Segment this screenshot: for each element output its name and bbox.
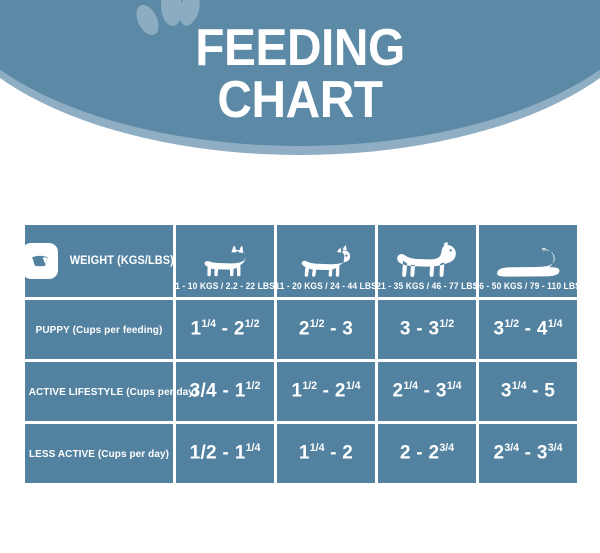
medium-dog-icon (301, 244, 351, 278)
size-header-cell-giant: 36 - 50 KGS / 79 - 110 LBS (479, 225, 577, 297)
amount-less-active-medium: 11/4 - 2 (277, 442, 375, 464)
cell-puppy-giant: 31/2 - 41/4 (479, 300, 577, 359)
page-title-line-1: FEEDING (24, 22, 576, 74)
amount-active-large: 21/4 - 31/4 (378, 380, 476, 402)
row-label-cell-active-lifestyle: ACTIVE LIFESTYLE (Cups per day) (25, 362, 173, 421)
row-label-cell-less-active: LESS ACTIVE (Cups per day) (25, 424, 173, 483)
feeding-chart-table: WEIGHT (KGS/LBS) 1 - 10 KGS / 2.2 - 22 L… (22, 222, 580, 486)
amount-puppy-giant: 31/2 - 41/4 (479, 318, 577, 340)
size-range-medium: 11 - 20 KGS / 24 - 44 LBS (275, 281, 377, 291)
size-header-cell-medium: 11 - 20 KGS / 24 - 44 LBS (277, 225, 375, 297)
weight-header-cell: WEIGHT (KGS/LBS) (25, 225, 173, 297)
size-header-cell-large: 21 - 35 KGS / 46 - 77 LBS (378, 225, 476, 297)
cell-active-large: 21/4 - 31/4 (378, 362, 476, 421)
size-header-cell-small: 1 - 10 KGS / 2.2 - 22 LBS (176, 225, 274, 297)
table-row-puppy: PUPPY (Cups per feeding) 11/4 - 21/2 21/… (25, 300, 577, 359)
cell-active-giant: 31/4 - 5 (479, 362, 577, 421)
page-title: FEEDING CHART (24, 22, 576, 126)
amount-less-active-small: 1/2 - 11/4 (176, 442, 274, 464)
table-header-row: WEIGHT (KGS/LBS) 1 - 10 KGS / 2.2 - 22 L… (25, 225, 577, 297)
amount-less-active-large: 2 - 23/4 (378, 442, 476, 464)
cell-less-active-large: 2 - 23/4 (378, 424, 476, 483)
header-banner: FEEDING CHART (0, 0, 600, 200)
cell-active-medium: 11/2 - 21/4 (277, 362, 375, 421)
size-range-small: 1 - 10 KGS / 2.2 - 22 LBS (175, 281, 275, 291)
table-row-less-active: LESS ACTIVE (Cups per day) 1/2 - 11/4 11… (25, 424, 577, 483)
small-dog-icon (203, 244, 247, 278)
giant-dog-icon (496, 248, 560, 278)
table-row-active-lifestyle: ACTIVE LIFESTYLE (Cups per day) 3/4 - 11… (25, 362, 577, 421)
weight-scale-icon (22, 243, 58, 279)
amount-active-medium: 11/2 - 21/4 (277, 380, 375, 402)
large-dog-icon (397, 242, 457, 278)
amount-active-giant: 31/4 - 5 (479, 380, 577, 402)
row-label-cell-puppy: PUPPY (Cups per feeding) (25, 300, 173, 359)
weight-header-label: WEIGHT (KGS/LBS) (69, 255, 173, 267)
amount-puppy-small: 11/4 - 21/2 (176, 318, 274, 340)
amount-less-active-giant: 23/4 - 33/4 (479, 442, 577, 464)
amount-puppy-large: 3 - 31/2 (378, 318, 476, 340)
row-label-active-lifestyle: ACTIVE LIFESTYLE (Cups per day) (29, 386, 170, 398)
row-label-less-active: LESS ACTIVE (Cups per day) (29, 448, 170, 460)
cell-less-active-small: 1/2 - 11/4 (176, 424, 274, 483)
size-range-large: 21 - 35 KGS / 46 - 77 LBS (376, 281, 478, 291)
cell-puppy-small: 11/4 - 21/2 (176, 300, 274, 359)
size-range-giant: 36 - 50 KGS / 79 - 110 LBS (475, 281, 581, 291)
cell-less-active-medium: 11/4 - 2 (277, 424, 375, 483)
row-label-puppy: PUPPY (Cups per feeding) (29, 324, 170, 336)
cell-puppy-large: 3 - 31/2 (378, 300, 476, 359)
amount-puppy-medium: 21/2 - 3 (277, 318, 375, 340)
cell-puppy-medium: 21/2 - 3 (277, 300, 375, 359)
cell-less-active-giant: 23/4 - 33/4 (479, 424, 577, 483)
scale-dial-icon (29, 254, 51, 267)
page-title-line-2: CHART (24, 74, 576, 126)
